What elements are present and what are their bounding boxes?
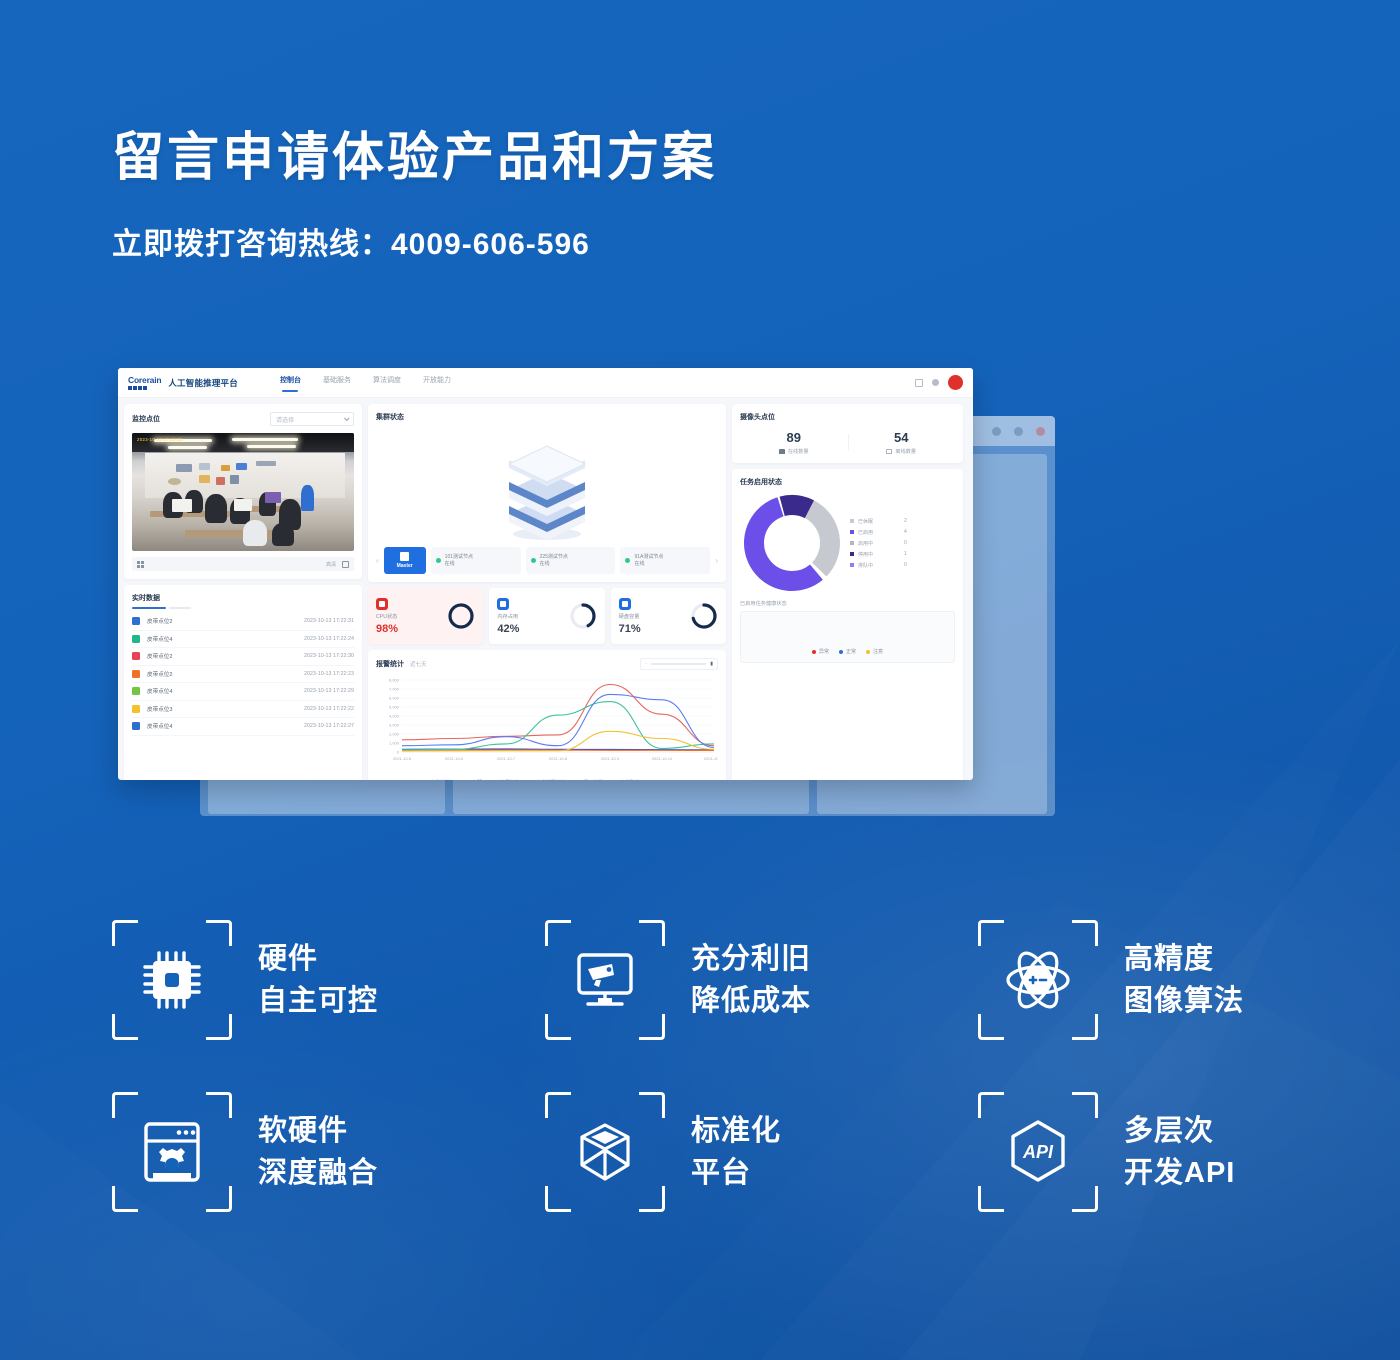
x-tick-label: 2021-10-7: [497, 756, 516, 761]
y-tick-label: 5,000: [389, 705, 400, 710]
health-status-chart: 异常正常注意: [740, 611, 955, 663]
feature-3-line2: 图像算法: [1124, 985, 1244, 1017]
camera-select-dropdown[interactable]: 请选择: [270, 412, 354, 426]
legend-item[interactable]: 工作服: [460, 779, 482, 780]
close-icon[interactable]: [948, 375, 963, 390]
node-3-status: 在线: [634, 561, 644, 567]
alarm-type-icon: [132, 670, 140, 678]
row-point-name: 皮带点位2: [147, 652, 173, 660]
feature-hardware: 硬件 自主可控: [112, 920, 545, 1040]
node-2-name: 225测试节点: [540, 554, 568, 560]
node-card-master[interactable]: Master: [384, 547, 426, 574]
list-item: 停用中1: [850, 549, 907, 560]
metric-value: 71%: [619, 623, 641, 635]
legend-label: 抽烟作业: [499, 779, 519, 780]
realtime-tab-indicator: [132, 603, 354, 609]
camera-panel-title: 监控点位: [132, 414, 160, 424]
metric-card-2: 内存占用42%: [489, 588, 604, 644]
legend-swatch: [850, 541, 854, 545]
y-tick-label: 7,000: [389, 687, 400, 692]
legend-name: 排队中: [858, 562, 888, 569]
video-timestamp: 2023-10-13 17:22:31: [137, 437, 183, 442]
table-row[interactable]: 皮带点位42023-10-13 17:22:29: [132, 683, 354, 701]
legend-item[interactable]: 抽烟作业: [492, 779, 519, 780]
table-row[interactable]: 皮带点位22023-10-13 17:22:23: [132, 666, 354, 684]
camera-stats-title: 摄像头点位: [740, 412, 955, 422]
camera-video-feed[interactable]: 2023-10-13 17:22:31: [132, 433, 354, 551]
node-1-status: 在线: [445, 561, 455, 567]
camera-on-icon: [779, 449, 785, 454]
row-point-name: 皮带点位2: [147, 670, 173, 678]
node-1-name: 101测试节点: [445, 554, 473, 560]
logo-squares: [128, 386, 161, 390]
row-timestamp: 2023-10-13 17:22:23: [304, 671, 354, 677]
camera-stats-panel: 摄像头点位 89 在线数量 54 离线数量: [732, 404, 963, 463]
open-box-icon: [574, 1119, 636, 1185]
legend-next-arrow[interactable]: ▶: [667, 780, 671, 781]
alarm-type-icon: [132, 617, 140, 625]
slider-track[interactable]: [651, 663, 706, 665]
hotline-text: 立即拨打咨询热线：4009-606-596: [112, 219, 717, 263]
feature-api: API 多层次 开发API: [978, 1092, 1302, 1212]
legend-page-label: 1/3: [657, 780, 664, 781]
row-point-name: 皮带点位4: [147, 687, 173, 695]
camera-select-value: 请选择: [276, 415, 294, 424]
row-point-name: 皮带点位4: [147, 722, 173, 730]
alarm-type-icon: [132, 652, 140, 660]
chip-icon-frame: [112, 920, 232, 1040]
api-hexagon-icon: API: [1007, 1119, 1069, 1185]
y-tick-label: 2,000: [389, 732, 400, 737]
alarm-line-chart-svg: 01,0002,0003,0004,0005,0006,0007,0008,00…: [376, 674, 718, 772]
legend-swatch: [850, 530, 854, 534]
node-3-name: 91A测试节点: [634, 554, 663, 560]
app-logo[interactable]: Corerain: [128, 376, 161, 390]
browser-gear-icon-frame: [112, 1092, 232, 1212]
video-quality-label: 高清: [326, 561, 336, 568]
legend-value: 2: [904, 518, 907, 524]
feature-4-line2: 深度融合: [258, 1157, 378, 1189]
legend-prev-arrow[interactable]: ◀: [650, 780, 654, 781]
stat-online: 89 在线数量: [740, 430, 848, 455]
list-item: 已启用4: [850, 527, 907, 538]
list-item: 排队中0: [850, 560, 907, 571]
chevron-down-icon: [344, 415, 350, 421]
legend-pager[interactable]: ◀1/3▶: [650, 780, 671, 781]
feature-1-line1: 硬件: [258, 943, 318, 975]
online-count: 89: [740, 430, 848, 445]
health-status-label: 已启用任务健康状态: [740, 600, 955, 607]
feature-row-1: 硬件 自主可控 充分利旧 降低成本: [112, 920, 1302, 1040]
legend-swatch: [850, 552, 854, 556]
row-timestamp: 2023-10-13 17:22:29: [304, 688, 354, 694]
y-tick-label: 4,000: [389, 714, 400, 719]
alarm-type-icon: [132, 687, 140, 695]
feature-precision: 高精度 图像算法: [978, 920, 1302, 1040]
y-tick-label: 6,000: [389, 696, 400, 701]
legend-item: 异常: [812, 648, 829, 655]
x-tick-label: 2021-10-5: [393, 756, 412, 761]
feature-standard: 标准化 平台: [545, 1092, 978, 1212]
window-controls: [915, 375, 963, 390]
alarm-type-icon: [132, 705, 140, 713]
row-point-name: 皮带点位3: [147, 705, 173, 713]
legend-value: 4: [904, 529, 907, 535]
y-tick-label: 0: [397, 750, 400, 755]
task-donut-legend: 已休眠2已启用4启用中0停用中1排队中0: [850, 516, 907, 571]
cluster-node-strip: ‹ Master 101测试节点 在线: [376, 547, 718, 574]
legend-label: 注意: [873, 648, 883, 655]
offline-count: 54: [848, 430, 956, 445]
legend-label: 皮带跑偏: [620, 779, 640, 780]
x-tick-label: 2021-10-11: [704, 756, 718, 761]
table-row[interactable]: 皮带点位42023-10-13 17:22:24: [132, 631, 354, 649]
chip-icon: [141, 949, 203, 1011]
chart-legend: 皮带堵料工作服抽烟作业皮带撕裂巡检闯入检测皮带跑偏◀1/3▶: [376, 779, 718, 780]
cluster-status-panel: 集群状态: [368, 404, 726, 582]
table-row[interactable]: 皮带点位22023-10-13 17:22:31: [132, 613, 354, 631]
list-item: 已休眠2: [850, 516, 907, 527]
legend-swatch: [839, 650, 843, 654]
realtime-row-list[interactable]: 皮带点位22023-10-13 17:22:31皮带点位42023-10-13 …: [132, 613, 354, 736]
row-point-name: 皮带点位4: [147, 635, 173, 643]
feature-5-line1: 标准化: [691, 1115, 781, 1147]
feature-2-line2: 降低成本: [691, 985, 811, 1017]
disk-icon: [619, 598, 631, 610]
feature-row-2: 软硬件 深度融合 标准化 平台: [112, 1092, 1302, 1212]
legend-item: 正常: [839, 648, 856, 655]
status-dot-online: [625, 558, 630, 563]
page-title: 留言申请体验产品和方案: [112, 128, 717, 189]
node-next-arrow[interactable]: ›: [715, 556, 718, 565]
row-timestamp: 2023-10-13 17:22:24: [304, 636, 354, 642]
app-navbar: Corerain 人工智能推理平台 控制台 基础服务 算法调度 开放能力: [118, 368, 973, 398]
node-card-3[interactable]: 91A测试节点 在线: [620, 547, 710, 574]
feature-1-line2: 自主可控: [258, 985, 378, 1017]
node-prev-arrow[interactable]: ‹: [376, 556, 379, 565]
legend-item[interactable]: 闯入检测: [576, 779, 603, 780]
y-tick-label: 1,000: [389, 741, 400, 746]
feature-3-line1: 高精度: [1124, 943, 1214, 975]
metric-progress-ring: [447, 602, 475, 630]
stat-offline: 54 离线数量: [848, 430, 956, 455]
node-card-1[interactable]: 101测试节点 在线: [431, 547, 521, 574]
series-line: [402, 694, 714, 747]
legend-name: 已启用: [858, 529, 888, 536]
logo-wordmark: Corerain: [128, 376, 161, 385]
metric-cards-row: CPU状态98%内存占用42%硬盘容量71%: [368, 588, 726, 644]
legend-label: 皮带撕裂巡检: [536, 779, 566, 780]
metric-card-3: 硬盘容量71%: [611, 588, 726, 644]
app-name: 人工智能推理平台: [168, 377, 238, 389]
maximize-icon[interactable]: [932, 379, 939, 386]
server-stack-illustration: [493, 442, 601, 542]
node-2-status: 在线: [540, 561, 550, 567]
x-tick-label: 2021-10-10: [652, 756, 673, 761]
monitor-camera-icon-frame: [545, 920, 665, 1040]
status-dot-online: [436, 558, 441, 563]
nav-items: 控制台 基础服务 算法调度 开放能力: [280, 375, 451, 390]
grid-layout-icon[interactable]: [137, 561, 144, 568]
legend-label: 异常: [819, 648, 829, 655]
chart-subtitle: 近七天: [410, 660, 427, 668]
metric-value: 42%: [497, 623, 519, 635]
dashboard-window: Corerain 人工智能推理平台 控制台 基础服务 算法调度 开放能力: [118, 368, 973, 780]
row-timestamp: 2023-10-13 17:22:31: [304, 618, 354, 624]
task-status-title: 任务启用状态: [740, 477, 955, 487]
online-label: 在线数量: [788, 448, 809, 455]
open-box-icon-frame: [545, 1092, 665, 1212]
task-donut-chart: [740, 491, 844, 595]
nav-item-open-capability[interactable]: 开放能力: [423, 375, 451, 390]
legend-name: 启用中: [858, 540, 888, 547]
feature-2-line1: 充分利旧: [691, 943, 811, 975]
realtime-data-panel: 实时数据 皮带点位22023-10-13 17:22:31皮带点位42023-1…: [124, 585, 362, 780]
dashboard-grid: 监控点位 请选择: [118, 398, 973, 780]
alarm-chart-panel: 报警统计 近七天 ◦ ▮ 01,0002,0003,0004,0005,0006…: [368, 650, 726, 780]
feature-integration: 软硬件 深度融合: [112, 1092, 545, 1212]
right-column: 摄像头点位 89 在线数量 54 离线数量: [732, 404, 963, 780]
x-tick-label: 2021-10-8: [549, 756, 568, 761]
legend-item[interactable]: 皮带撕裂巡检: [529, 779, 566, 780]
row-timestamp: 2023-10-13 17:22:30: [304, 653, 354, 659]
browser-gear-icon: [143, 1121, 201, 1183]
row-point-name: 皮带点位2: [147, 617, 173, 625]
legend-label: 正常: [846, 648, 856, 655]
legend-swatch: [866, 650, 870, 654]
legend-label: 闯入检测: [583, 779, 603, 780]
metric-label: 硬盘容量: [619, 613, 641, 620]
list-item: 启用中0: [850, 538, 907, 549]
slider-right-icon: ▮: [710, 661, 713, 667]
legend-name: 停用中: [858, 551, 888, 558]
chart-title: 报警统计: [376, 659, 404, 669]
legend-item[interactable]: 皮带堵料: [423, 779, 450, 780]
feature-grid: 硬件 自主可控 充分利旧 降低成本: [112, 920, 1302, 1264]
atom-icon: [1005, 949, 1071, 1011]
metric-progress-ring: [690, 602, 718, 630]
left-column: 监控点位 请选择: [124, 404, 362, 780]
y-tick-label: 8,000: [389, 678, 400, 683]
row-timestamp: 2023-10-13 17:22:27: [304, 723, 354, 729]
alarm-type-icon: [132, 722, 140, 730]
task-status-panel: 任务启用状态 已休眠2已启用4启用中0停用中1排队中0 已启用任务健康状态: [732, 469, 963, 780]
feature-6-line2: 开发API: [1124, 1157, 1235, 1189]
monitor-camera-icon: [574, 951, 636, 1009]
nav-item-console[interactable]: 控制台: [280, 375, 301, 390]
metric-label: 内存占用: [497, 613, 519, 620]
table-row[interactable]: 皮带点位22023-10-13 17:22:30: [132, 648, 354, 666]
y-tick-label: 3,000: [389, 723, 400, 728]
feature-6-line1: 多层次: [1124, 1115, 1214, 1147]
chart-range-slider[interactable]: ◦ ▮: [640, 658, 718, 670]
middle-column: 集群状态: [368, 404, 726, 780]
row-timestamp: 2023-10-13 17:22:22: [304, 706, 354, 712]
feature-reuse: 充分利旧 降低成本: [545, 920, 978, 1040]
alarm-type-icon: [132, 635, 140, 643]
cluster-panel-title: 集群状态: [376, 412, 718, 422]
api-hexagon-icon-frame: API: [978, 1092, 1098, 1212]
nav-item-basic-service[interactable]: 基础服务: [323, 375, 351, 390]
legend-label: 皮带堵料: [430, 779, 450, 780]
metric-label: CPU状态: [376, 613, 398, 620]
metric-progress-ring: [569, 602, 597, 630]
camera-toolbar: 高清: [132, 557, 354, 571]
svg-text:API: API: [1022, 1142, 1054, 1162]
product-screenshot-composite: 54 离线数量 Corerain 人工智能推理平台 控制台 基础服务 算法调度 …: [118, 368, 1078, 828]
cpu-icon: [376, 598, 388, 610]
slider-left-icon: ◦: [645, 661, 647, 667]
hero-block: 留言申请体验产品和方案 立即拨打咨询热线：4009-606-596: [112, 128, 717, 263]
legend-swatch: [812, 650, 816, 654]
legend-name: 已休眠: [858, 518, 888, 525]
legend-value: 0: [904, 562, 907, 568]
legend-swatch: [850, 519, 854, 523]
legend-value: 0: [904, 540, 907, 546]
feature-5-line2: 平台: [691, 1157, 751, 1189]
metric-card-1: CPU状态98%: [368, 588, 483, 644]
fullscreen-icon[interactable]: [342, 561, 349, 568]
node-master-label: Master: [397, 563, 413, 569]
camera-monitor-panel: 监控点位 请选择: [124, 404, 362, 579]
chart-plot-area: 01,0002,0003,0004,0005,0006,0007,0008,00…: [376, 674, 718, 777]
table-row[interactable]: 皮带点位32023-10-13 17:22:22: [132, 701, 354, 719]
minimize-icon[interactable]: [915, 379, 923, 387]
x-tick-label: 2021-10-6: [445, 756, 464, 761]
status-dot-online: [531, 558, 536, 563]
series-line: [402, 702, 714, 750]
legend-item[interactable]: 皮带跑偏: [613, 779, 640, 780]
atom-icon-frame: [978, 920, 1098, 1040]
server-icon: [400, 552, 409, 561]
legend-label: 工作服: [467, 779, 482, 780]
legend-value: 1: [904, 551, 907, 557]
metric-value: 98%: [376, 623, 398, 635]
nav-item-algorithm-scheduling[interactable]: 算法调度: [373, 375, 401, 390]
realtime-panel-title: 实时数据: [132, 593, 354, 603]
offline-label: 离线数量: [895, 448, 916, 455]
memory-icon: [497, 598, 509, 610]
x-tick-label: 2021-10-9: [601, 756, 620, 761]
legend-item: 注意: [866, 648, 883, 655]
legend-swatch: [850, 563, 854, 567]
table-row[interactable]: 皮带点位42023-10-13 17:22:27: [132, 718, 354, 736]
node-card-2[interactable]: 225测试节点 在线: [526, 547, 616, 574]
camera-off-icon: [886, 449, 892, 454]
feature-4-line1: 软硬件: [258, 1115, 348, 1147]
health-legend: 异常正常注意: [812, 648, 883, 655]
